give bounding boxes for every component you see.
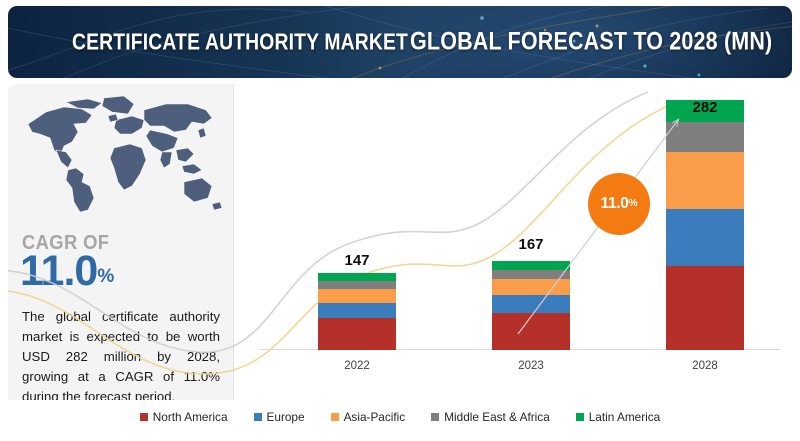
legend-swatch-icon <box>431 413 439 421</box>
cagr-percent-symbol: % <box>97 266 114 287</box>
legend-label: Asia-Pacific <box>344 410 406 424</box>
cagr-value: 11.0% <box>20 250 114 293</box>
header-banner: CERTIFICATE AUTHORITY MARKETGLOBAL FOREC… <box>8 6 792 78</box>
legend-item-asia-pacific[interactable]: Asia-Pacific <box>331 410 406 424</box>
legend-item-middle-east-africa[interactable]: Middle East & Africa <box>431 410 550 424</box>
legend-item-latin-america[interactable]: Latin America <box>576 410 660 424</box>
legend-label: Latin America <box>589 410 660 424</box>
title-segment-primary: CERTIFICATE AUTHORITY MARKET <box>72 29 408 56</box>
cagr-callout-badge[interactable]: 11.0% <box>588 173 650 235</box>
page-title: CERTIFICATE AUTHORITY MARKETGLOBAL FOREC… <box>8 28 792 57</box>
cagr-badge-number: 11.0 <box>600 195 628 212</box>
world-map-icon <box>16 90 228 218</box>
infographic-root: CERTIFICATE AUTHORITY MARKETGLOBAL FOREC… <box>0 0 800 441</box>
plot-canvas: 147 2022 167 2023 <box>260 92 780 384</box>
legend-item-europe[interactable]: Europe <box>254 410 305 424</box>
growth-arrow <box>260 92 780 384</box>
title-segment-secondary: GLOBAL FORECAST TO 2028 (MN) <box>410 28 772 57</box>
legend-swatch-icon <box>140 413 148 421</box>
legend-swatch-icon <box>576 413 584 421</box>
body-card: CAGR OF 11.0% The global certificate aut… <box>8 84 792 434</box>
chart-area: 147 2022 167 2023 <box>234 84 792 434</box>
legend-label: Europe <box>267 410 305 424</box>
legend-label: Middle East & Africa <box>444 410 550 424</box>
chart-legend: North America Europe Asia-Pacific Middle… <box>8 400 792 434</box>
left-summary-panel: CAGR OF 11.0% The global certificate aut… <box>8 84 233 434</box>
legend-swatch-icon <box>331 413 339 421</box>
legend-label: North America <box>153 410 228 424</box>
legend-swatch-icon <box>254 413 262 421</box>
legend-item-north-america[interactable]: North America <box>140 410 228 424</box>
panel-description: The global certificate authority market … <box>22 307 220 407</box>
cagr-number: 11.0 <box>20 247 97 295</box>
cagr-badge-percent: % <box>629 198 638 209</box>
